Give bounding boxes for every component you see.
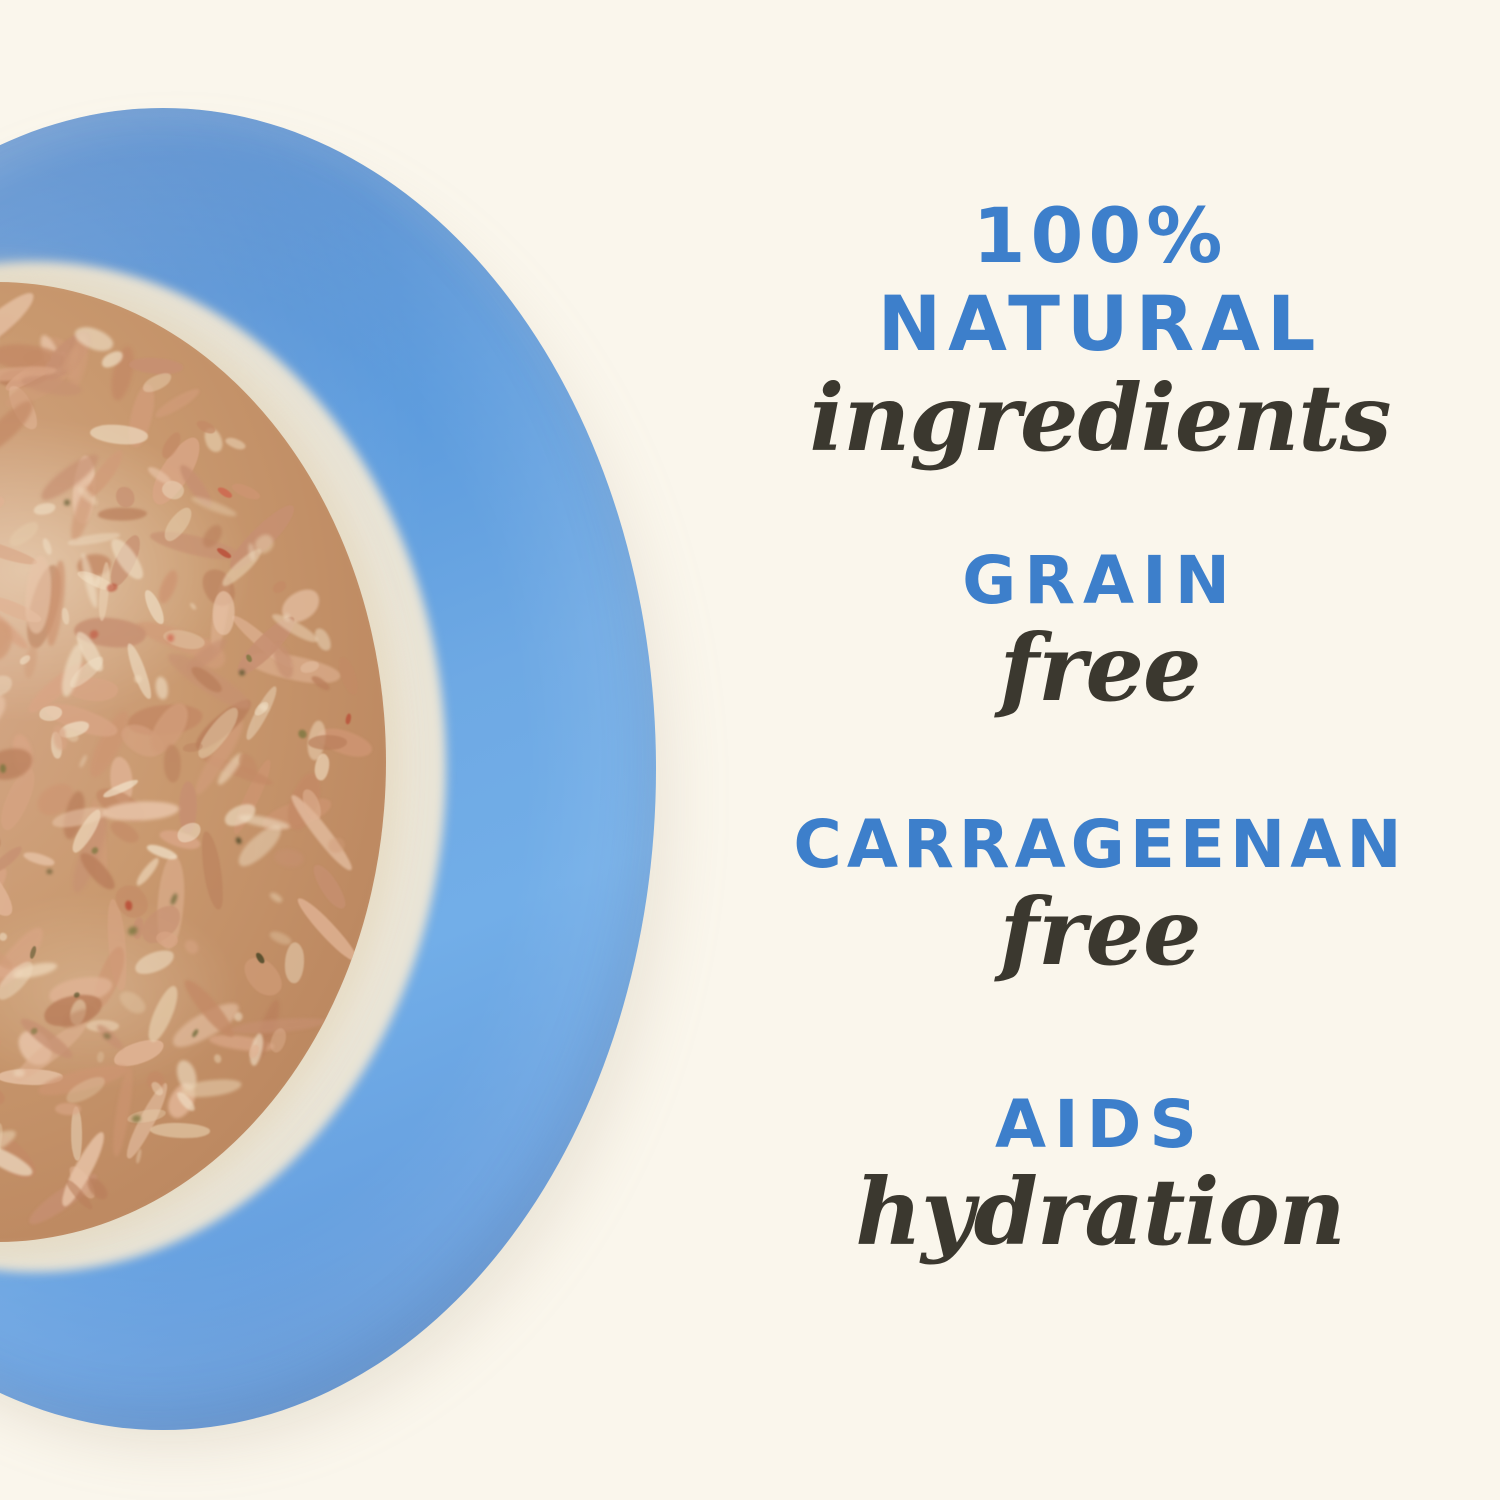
food-flake xyxy=(104,898,129,991)
food-flake xyxy=(308,861,350,913)
food-flake xyxy=(0,1125,19,1166)
food-flake xyxy=(246,653,254,663)
food-flake xyxy=(23,644,40,679)
food-flake xyxy=(208,1032,274,1054)
food-flake xyxy=(93,576,102,588)
food-flake xyxy=(230,757,277,836)
food-flake xyxy=(219,545,266,590)
food-flake xyxy=(159,429,185,461)
food-flake xyxy=(126,702,203,739)
food-flake xyxy=(0,1062,9,1112)
food-flake xyxy=(60,790,88,841)
claim-natural-ingredients: 100% NATURAL ingredients xyxy=(700,198,1500,464)
food-flake xyxy=(189,716,249,798)
food-flake xyxy=(42,537,54,555)
food-flake xyxy=(48,972,115,1009)
food-flake xyxy=(51,732,64,760)
food-flake xyxy=(191,494,239,519)
food-flake xyxy=(162,627,207,653)
food-flake xyxy=(71,1107,83,1161)
claim-1-cap-line-2: NATURAL xyxy=(700,286,1500,362)
product-feature-graphic: 100% NATURAL ingredients GRAIN free CARR… xyxy=(0,0,1500,1500)
food-flake xyxy=(217,486,234,500)
food-flake xyxy=(42,698,121,744)
food-flake xyxy=(51,724,69,752)
food-flake xyxy=(133,616,225,666)
food-flake xyxy=(326,835,346,854)
food-flake xyxy=(134,855,162,887)
food-flake xyxy=(95,1022,126,1052)
food-flake xyxy=(224,435,246,450)
food-flake xyxy=(188,633,231,675)
food-flake xyxy=(273,847,305,868)
food-flake xyxy=(114,484,138,510)
food-flake xyxy=(259,703,270,713)
food-flake xyxy=(0,765,41,834)
claim-4-script: hydration xyxy=(700,1166,1500,1258)
food-flake xyxy=(38,331,86,385)
food-flake xyxy=(0,1139,36,1181)
food-flake xyxy=(107,818,142,848)
food-flake xyxy=(239,669,246,676)
food-flake xyxy=(286,791,356,875)
food-flake xyxy=(268,1026,289,1054)
food-flake xyxy=(84,1175,111,1203)
food-flake xyxy=(99,348,125,371)
food-flake xyxy=(66,332,93,388)
food-flake xyxy=(195,563,241,612)
food-flake xyxy=(235,836,243,845)
food-flake xyxy=(162,1079,200,1123)
food-flake xyxy=(36,1059,130,1101)
food-flake xyxy=(283,613,290,622)
food-flake xyxy=(72,322,116,355)
food-flake xyxy=(60,1004,97,1031)
food-flake xyxy=(269,641,296,680)
food-flake xyxy=(102,1032,112,1041)
food-flake xyxy=(66,653,108,692)
food-flake xyxy=(163,745,182,784)
food-flake xyxy=(146,842,179,862)
food-flake xyxy=(275,583,325,630)
food-flake xyxy=(79,553,101,610)
food-flake xyxy=(242,684,280,742)
food-flake xyxy=(228,612,295,673)
food-flake xyxy=(68,998,89,1027)
food-flake xyxy=(0,671,16,700)
food-flake xyxy=(86,1020,120,1033)
food-flake xyxy=(105,535,147,585)
food-flake xyxy=(76,553,112,579)
food-flake xyxy=(144,431,208,511)
food-flake xyxy=(192,702,244,762)
food-flake xyxy=(167,996,244,1055)
claims-list: 100% NATURAL ingredients GRAIN free CARR… xyxy=(700,0,1500,1500)
food-flake xyxy=(105,582,118,593)
food-flake xyxy=(213,1053,222,1064)
food-flake xyxy=(299,659,320,674)
food-flake xyxy=(223,499,301,577)
food-flake xyxy=(284,942,305,984)
food-flake xyxy=(109,878,154,923)
food-flake xyxy=(131,1114,141,1122)
food-flake xyxy=(1,365,70,412)
food-flake xyxy=(247,543,256,561)
food-flake xyxy=(71,455,98,525)
food-flake xyxy=(116,987,150,1018)
food-flake xyxy=(167,634,175,642)
food-flake xyxy=(73,615,147,650)
food-flake xyxy=(0,963,24,979)
food-flake xyxy=(59,345,83,375)
food-flake xyxy=(308,735,348,750)
food-flake xyxy=(345,713,352,724)
food-flake xyxy=(109,1066,136,1158)
food-flake xyxy=(0,366,49,389)
food-flake xyxy=(0,623,16,669)
claim-1-cap-line-1: 100% xyxy=(700,198,1500,274)
food-flake xyxy=(0,341,66,375)
food-flake xyxy=(247,1043,261,1060)
food-flake xyxy=(75,848,118,894)
food-flake xyxy=(268,891,284,905)
food-flake xyxy=(121,1079,173,1161)
food-flake xyxy=(143,697,195,758)
food-flake xyxy=(215,546,232,560)
food-flake xyxy=(89,422,148,446)
food-flake xyxy=(73,991,81,999)
food-flake xyxy=(306,719,328,761)
food-flake xyxy=(145,1070,165,1091)
food-flake xyxy=(39,705,64,723)
food-flake xyxy=(192,1028,200,1037)
food-flake xyxy=(154,676,170,701)
food-flake xyxy=(234,1012,244,1023)
food-flake xyxy=(67,482,99,543)
food-flake xyxy=(252,699,271,717)
food-flake xyxy=(62,1072,108,1108)
food-flake xyxy=(42,990,106,1032)
food-flake xyxy=(125,900,133,911)
food-flake xyxy=(235,751,261,779)
food-flake xyxy=(128,356,183,376)
food-flake xyxy=(11,1016,92,1087)
food-flake xyxy=(66,810,113,895)
food-flake xyxy=(0,308,18,359)
food-flake xyxy=(87,798,110,886)
food-flake xyxy=(0,592,31,653)
food-flake xyxy=(0,617,16,662)
food-flake xyxy=(0,1124,42,1186)
food-flake xyxy=(64,499,70,506)
food-flake xyxy=(183,937,202,956)
food-flake xyxy=(38,325,99,387)
food-flake xyxy=(84,707,136,781)
food-flake xyxy=(155,568,181,605)
food-flake xyxy=(0,591,43,627)
food-flake xyxy=(17,1014,77,1064)
food-flake xyxy=(14,1068,25,1077)
food-flake xyxy=(158,826,202,852)
food-flake xyxy=(312,626,334,653)
food-flake xyxy=(169,893,178,906)
food-flake xyxy=(150,1080,165,1097)
food-flake xyxy=(75,485,99,508)
food-flake xyxy=(213,591,235,635)
food-flake xyxy=(65,1163,100,1203)
food-flake xyxy=(29,946,37,959)
food-flake xyxy=(297,728,309,740)
food-flake xyxy=(251,998,284,1062)
food-flake xyxy=(32,777,80,821)
food-flake xyxy=(230,1015,326,1037)
food-flake xyxy=(0,687,13,748)
food-flake xyxy=(268,929,293,947)
food-flake xyxy=(174,1089,196,1113)
food-flake xyxy=(132,946,177,979)
food-flake xyxy=(148,526,242,565)
food-flake xyxy=(51,804,109,831)
food-flake xyxy=(75,567,115,593)
food-flake xyxy=(102,777,140,800)
food-flake xyxy=(6,518,42,551)
food-flake xyxy=(222,800,259,830)
food-flake xyxy=(150,1122,211,1139)
food-flake xyxy=(12,959,58,980)
food-flake xyxy=(0,843,26,876)
food-flake xyxy=(251,531,277,557)
food-flake xyxy=(107,344,138,402)
food-flake xyxy=(57,718,90,741)
food-flake xyxy=(190,693,257,755)
food-flake xyxy=(88,944,130,1011)
food-flake xyxy=(162,646,254,717)
food-flake xyxy=(182,741,203,753)
food-flake xyxy=(238,813,291,833)
food-flake xyxy=(0,530,39,570)
food-flake xyxy=(248,1032,266,1067)
food-flake xyxy=(141,370,175,396)
food-flake xyxy=(131,916,144,939)
food-flake xyxy=(63,1177,95,1212)
food-flake xyxy=(64,728,81,744)
food-flake xyxy=(90,846,98,855)
food-flake xyxy=(10,732,37,775)
claim-grain-free: GRAIN free xyxy=(700,548,1500,714)
food-flake xyxy=(0,801,8,860)
food-flake xyxy=(200,751,275,790)
food-flake xyxy=(145,464,173,487)
food-flake xyxy=(199,522,226,551)
food-flake xyxy=(188,663,225,697)
claim-2-cap-line-1: GRAIN xyxy=(700,548,1500,614)
food-flake xyxy=(124,382,159,450)
food-flake xyxy=(178,781,197,833)
food-flake xyxy=(101,800,179,823)
food-flake xyxy=(259,791,335,836)
food-flake xyxy=(315,723,375,762)
food-flake xyxy=(173,1058,200,1093)
food-flake xyxy=(117,718,169,762)
food-flake xyxy=(293,894,362,966)
food-flake xyxy=(189,602,197,611)
food-flake xyxy=(36,449,103,506)
food-flake xyxy=(141,588,167,626)
food-flake xyxy=(111,1034,167,1071)
claim-carrageenan-free: CARRAGEENAN free xyxy=(700,812,1500,978)
food-flake xyxy=(123,641,154,700)
food-flake xyxy=(0,1032,5,1080)
food-flake xyxy=(57,1129,111,1210)
food-flake xyxy=(62,607,71,625)
food-flake xyxy=(58,642,87,698)
food-flake xyxy=(180,975,240,1042)
food-flake xyxy=(271,579,289,596)
food-flake xyxy=(254,952,266,966)
food-flake xyxy=(68,676,119,701)
food-flake xyxy=(0,763,6,772)
food-flake xyxy=(68,531,121,548)
food-flake xyxy=(237,951,288,1003)
food-flake xyxy=(314,752,331,780)
food-flake xyxy=(98,561,112,620)
claim-3-cap-line-1: CARRAGEENAN xyxy=(700,812,1500,878)
food-flake xyxy=(91,782,149,829)
food-flake xyxy=(23,555,54,635)
food-flake xyxy=(23,351,51,364)
food-flake xyxy=(234,820,287,872)
claim-2-script: free xyxy=(700,622,1500,714)
food-flake xyxy=(0,286,40,363)
food-flake xyxy=(309,673,331,692)
food-flake xyxy=(21,562,67,651)
food-flake xyxy=(0,864,12,918)
food-flake xyxy=(127,925,139,937)
claim-4-cap-line-1: AIDS xyxy=(700,1092,1500,1158)
food-flake xyxy=(155,930,181,950)
claim-aids-hydration: AIDS hydration xyxy=(700,1092,1500,1258)
food-flake xyxy=(180,1076,242,1099)
food-flake xyxy=(143,983,183,1045)
food-flake xyxy=(44,560,69,647)
food-flake xyxy=(183,634,231,676)
food-flake xyxy=(36,332,65,378)
food-flake xyxy=(0,922,50,993)
food-flake xyxy=(12,1024,59,1072)
food-flake xyxy=(195,418,217,436)
food-flake xyxy=(160,504,196,545)
food-flake xyxy=(55,1102,81,1115)
food-flake xyxy=(23,850,57,868)
food-flake xyxy=(160,479,186,502)
food-flake xyxy=(72,628,108,675)
food-flake xyxy=(201,425,225,454)
food-flake xyxy=(47,869,53,875)
food-flake xyxy=(108,755,135,804)
food-flake xyxy=(97,1052,105,1064)
food-flake xyxy=(30,1026,39,1035)
food-flake xyxy=(198,830,227,911)
food-flake xyxy=(231,610,301,680)
food-flake xyxy=(20,372,83,399)
food-flake xyxy=(23,1167,101,1230)
food-flake xyxy=(3,381,42,432)
product-photo xyxy=(0,0,760,1500)
food-flake xyxy=(299,787,324,822)
food-flake xyxy=(155,854,187,950)
food-flake xyxy=(0,1068,63,1085)
food-flake xyxy=(336,655,362,696)
food-flake xyxy=(0,942,15,972)
food-flake xyxy=(2,347,70,396)
food-flake xyxy=(126,1106,167,1125)
food-flake xyxy=(18,653,32,666)
food-flake xyxy=(153,385,203,422)
food-flake xyxy=(0,364,57,384)
food-flake xyxy=(23,657,89,718)
food-flake xyxy=(0,932,8,942)
food-flake xyxy=(135,899,187,950)
food-flake xyxy=(0,1122,5,1168)
food-flake xyxy=(0,956,38,1004)
food-flake xyxy=(0,395,39,459)
claim-1-script: ingredients xyxy=(700,372,1500,464)
food-flake xyxy=(0,744,36,785)
food-flake xyxy=(176,462,216,511)
food-flake xyxy=(270,609,321,645)
food-flake xyxy=(282,769,327,833)
food-flake xyxy=(135,1148,142,1164)
food-flake xyxy=(230,480,262,501)
food-flake xyxy=(105,531,145,589)
food-flake xyxy=(207,573,233,655)
food-flake xyxy=(174,819,204,846)
food-flake xyxy=(78,754,88,769)
food-flake xyxy=(33,501,56,516)
food-flake xyxy=(0,853,20,924)
food-flake xyxy=(68,806,105,855)
food-flake xyxy=(88,629,100,641)
food-flake xyxy=(133,674,144,685)
food-flake xyxy=(214,751,245,787)
food-flake xyxy=(0,489,7,525)
food-flake xyxy=(82,447,127,501)
claim-3-script: free xyxy=(700,886,1500,978)
food-flake xyxy=(98,508,147,521)
food-flake xyxy=(245,647,343,689)
